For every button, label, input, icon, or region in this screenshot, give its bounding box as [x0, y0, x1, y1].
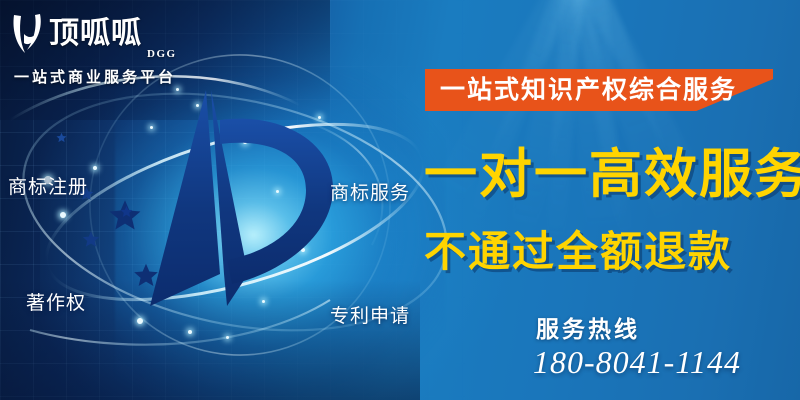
headline-secondary: 不通过全额退款	[424, 228, 732, 276]
p-monument-emblem	[128, 78, 343, 338]
brand-tagline: 一站式商业服务平台	[14, 66, 176, 87]
promo-banner: 顶呱呱 DGG 一站式商业服务平台 商标注册 商标服务 著作权 专利申请 一站式…	[0, 0, 800, 400]
sparkle-dot	[60, 212, 66, 218]
hotline-number[interactable]: 180-8041-1144	[533, 344, 741, 381]
brand-name-en: DGG	[147, 48, 177, 60]
feature-label-trademark-service[interactable]: 商标服务	[330, 178, 410, 205]
sparkle-dot	[93, 166, 97, 170]
hotline-label: 服务热线	[536, 310, 640, 344]
headline-primary: 一对一高效服务	[424, 146, 800, 204]
dgg-leaf-mark-icon	[10, 12, 44, 56]
feature-label-trademark-registration[interactable]: 商标注册	[8, 172, 88, 199]
decorative-star-icon	[56, 132, 67, 143]
brand-name-cn: 顶呱呱	[49, 19, 142, 49]
feature-label-patent-application[interactable]: 专利申请	[330, 301, 410, 328]
brand-logo[interactable]: 顶呱呱 DGG 一站式商业服务平台	[10, 8, 190, 90]
feature-label-copyright[interactable]: 著作权	[26, 288, 86, 315]
decorative-star-icon	[82, 230, 100, 248]
ribbon-label: 一站式知识产权综合服务	[440, 74, 737, 106]
